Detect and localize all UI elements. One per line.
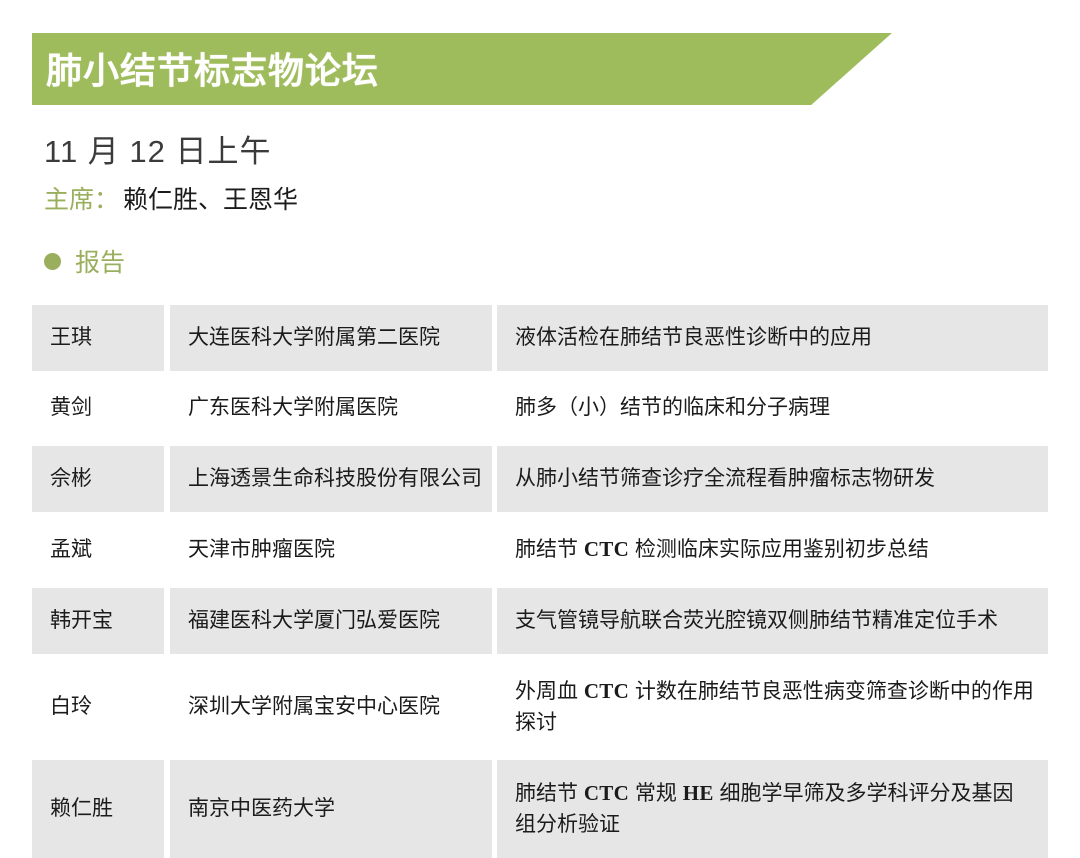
cell-speaker-name: 韩开宝	[32, 588, 164, 654]
cell-affiliation: 广东医科大学附属医院	[170, 375, 492, 441]
chair-label: 主席：	[44, 186, 119, 214]
cell-affiliation: 大连医科大学附属第二医院	[170, 305, 492, 371]
cell-affiliation: 上海透景生命科技股份有限公司	[170, 446, 492, 512]
cell-affiliation: 南京中医药大学	[170, 760, 492, 858]
cell-affiliation: 天津市肿瘤医院	[170, 516, 492, 583]
latin-term: HE	[683, 781, 714, 805]
cell-speaker-name: 孟斌	[32, 516, 164, 583]
cell-talk-title: 液体活检在肺结节良恶性诊断中的应用	[497, 305, 1048, 371]
forum-title-banner: 肺小结节标志物论坛	[32, 33, 892, 105]
latin-term: CTC	[584, 781, 629, 805]
table-row: 韩开宝福建医科大学厦门弘爱医院支气管镜导航联合荧光腔镜双侧肺结节精准定位手术	[32, 588, 1048, 654]
table-row: 王琪大连医科大学附属第二医院液体活检在肺结节良恶性诊断中的应用	[32, 305, 1048, 371]
table-row: 黄剑广东医科大学附属医院肺多（小）结节的临床和分子病理	[32, 375, 1048, 441]
document-page: 肺小结节标志物论坛 11 月 12 日上午 主席：赖仁胜、王恩华 报告 王琪大连…	[0, 0, 1080, 826]
table-row: 赖仁胜南京中医药大学肺结节 CTC 常规 HE 细胞学早筛及多学科评分及基因组分…	[32, 760, 1048, 858]
cell-talk-title: 肺结节 CTC 检测临床实际应用鉴别初步总结	[497, 516, 1048, 583]
table-row: 孟斌天津市肿瘤医院肺结节 CTC 检测临床实际应用鉴别初步总结	[32, 516, 1048, 583]
dot-bullet-icon	[44, 253, 61, 270]
cell-affiliation: 福建医科大学厦门弘爱医院	[170, 588, 492, 654]
latin-term: CTC	[584, 537, 629, 561]
latin-term: CTC	[584, 679, 629, 703]
table-body: 王琪大连医科大学附属第二医院液体活检在肺结节良恶性诊断中的应用黄剑广东医科大学附…	[32, 305, 1048, 858]
cell-talk-title: 肺多（小）结节的临床和分子病理	[497, 375, 1048, 441]
table-row: 白玲深圳大学附属宝安中心医院外周血 CTC 计数在肺结节良恶性病变筛查诊断中的作…	[32, 658, 1048, 756]
cell-speaker-name: 白玲	[32, 658, 164, 756]
cell-speaker-name: 黄剑	[32, 375, 164, 441]
cell-talk-title: 外周血 CTC 计数在肺结节良恶性病变筛查诊断中的作用探讨	[497, 658, 1048, 756]
cell-speaker-name: 赖仁胜	[32, 760, 164, 858]
cell-talk-title: 肺结节 CTC 常规 HE 细胞学早筛及多学科评分及基因组分析验证	[497, 760, 1048, 858]
section-heading-reports: 报告	[44, 243, 125, 279]
session-schedule-table: 王琪大连医科大学附属第二医院液体活检在肺结节良恶性诊断中的应用黄剑广东医科大学附…	[32, 305, 1048, 858]
page-title: 肺小结节标志物论坛	[46, 42, 379, 94]
cell-speaker-name: 王琪	[32, 305, 164, 371]
chair-names: 赖仁胜、王恩华	[123, 186, 298, 214]
cell-talk-title: 从肺小结节筛查诊疗全流程看肿瘤标志物研发	[497, 446, 1048, 512]
cell-talk-title: 支气管镜导航联合荧光腔镜双侧肺结节精准定位手术	[497, 588, 1048, 654]
chair-line: 主席：赖仁胜、王恩华	[44, 185, 298, 215]
table-row: 佘彬上海透景生命科技股份有限公司从肺小结节筛查诊疗全流程看肿瘤标志物研发	[32, 446, 1048, 512]
cell-speaker-name: 佘彬	[32, 446, 164, 512]
cell-affiliation: 深圳大学附属宝安中心医院	[170, 658, 492, 756]
section-heading-label: 报告	[75, 243, 125, 279]
session-date: 11 月 12 日上午	[44, 126, 272, 171]
